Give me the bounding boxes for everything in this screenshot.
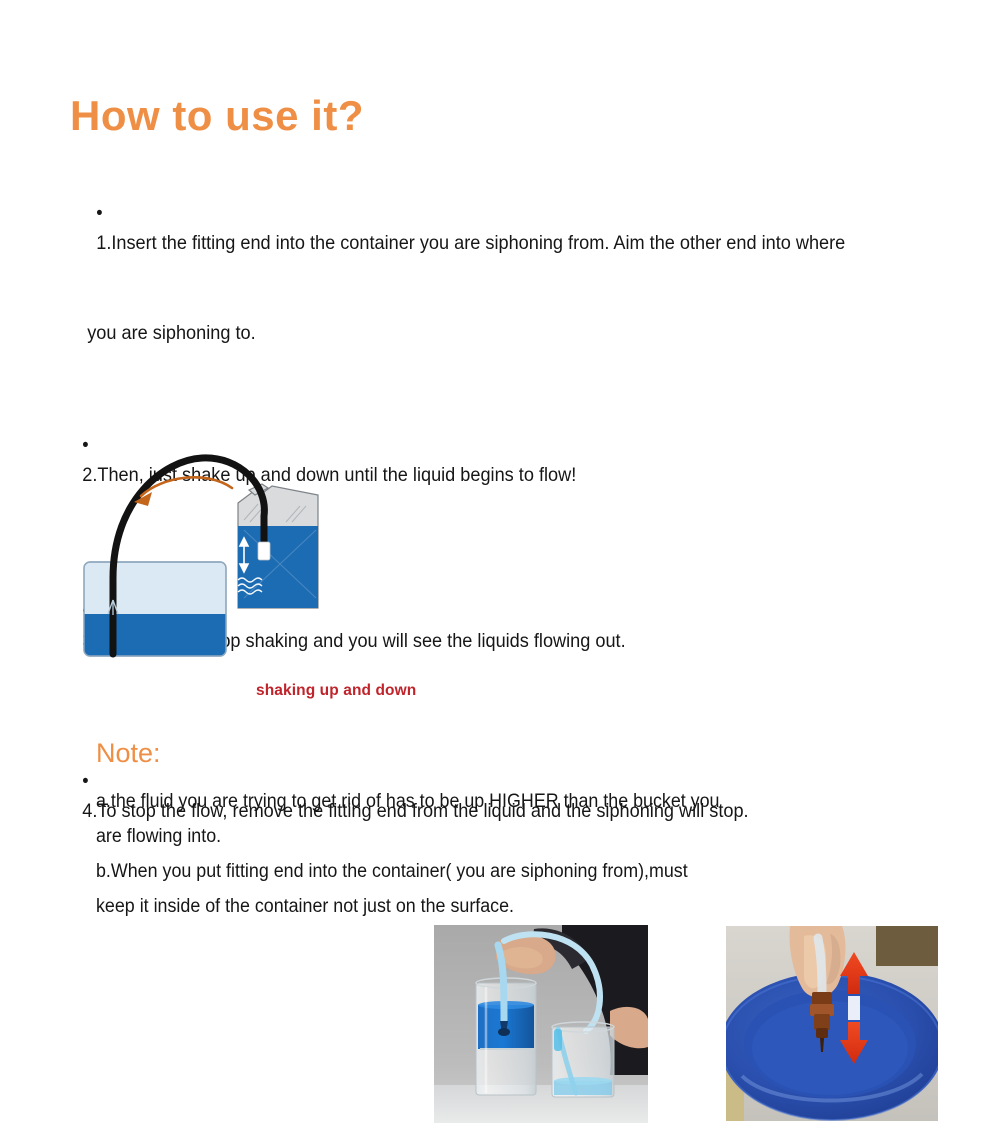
- photo1-tube-top-segment: [554, 1029, 562, 1051]
- siphon-diagram: [72, 448, 402, 683]
- step-text: 1.Insert the fitting end into the contai…: [96, 232, 845, 254]
- note-line: a.the fluid you are trying to get rid of…: [96, 784, 848, 819]
- siphon-diagram-svg: [72, 448, 402, 678]
- note-line: are flowing into.: [96, 819, 848, 854]
- note-list: a.the fluid you are trying to get rid of…: [96, 784, 896, 924]
- photo-siphon-between-cylinders: [434, 925, 648, 1123]
- note-line: keep it inside of the container not just…: [96, 889, 848, 924]
- step-item-1-continuation: you are siphoning to.: [57, 288, 889, 378]
- photo-siphon-cylinders-svg: [434, 925, 648, 1123]
- photo2-dark-corner: [876, 926, 938, 966]
- left-tank-liquid: [84, 614, 226, 656]
- photo1-table: [434, 1085, 648, 1123]
- page-title: How to use it?: [70, 92, 364, 140]
- photo2-clear-tube: [818, 938, 822, 996]
- step-bullet: •: [82, 770, 89, 792]
- step-bullet: •: [96, 202, 103, 224]
- diagram-caption: shaking up and down: [256, 682, 416, 700]
- step-item-1: • 1.Insert the fitting end into the cont…: [66, 168, 890, 288]
- note-heading: Note:: [96, 738, 161, 769]
- photo1-fitting-tip: [498, 1028, 510, 1036]
- photo1-short-liquid-surface: [554, 1077, 612, 1085]
- note-line: b.When you put fitting end into the cont…: [96, 854, 848, 889]
- figures-row: [0, 448, 1001, 713]
- diagram-left-tank: [84, 562, 226, 656]
- diagram-jerrycan: [238, 484, 318, 608]
- instruction-page: How to use it? • 1.Insert the fitting en…: [0, 0, 1001, 1001]
- step-text-continued: you are siphoning to.: [87, 322, 255, 344]
- photo-shaking-fitting-in-blue-barrel: [726, 926, 938, 1121]
- jerrycan-liquid: [238, 526, 318, 608]
- hose-fitting-tip: [258, 542, 270, 560]
- photo-barrel-svg: [726, 926, 938, 1121]
